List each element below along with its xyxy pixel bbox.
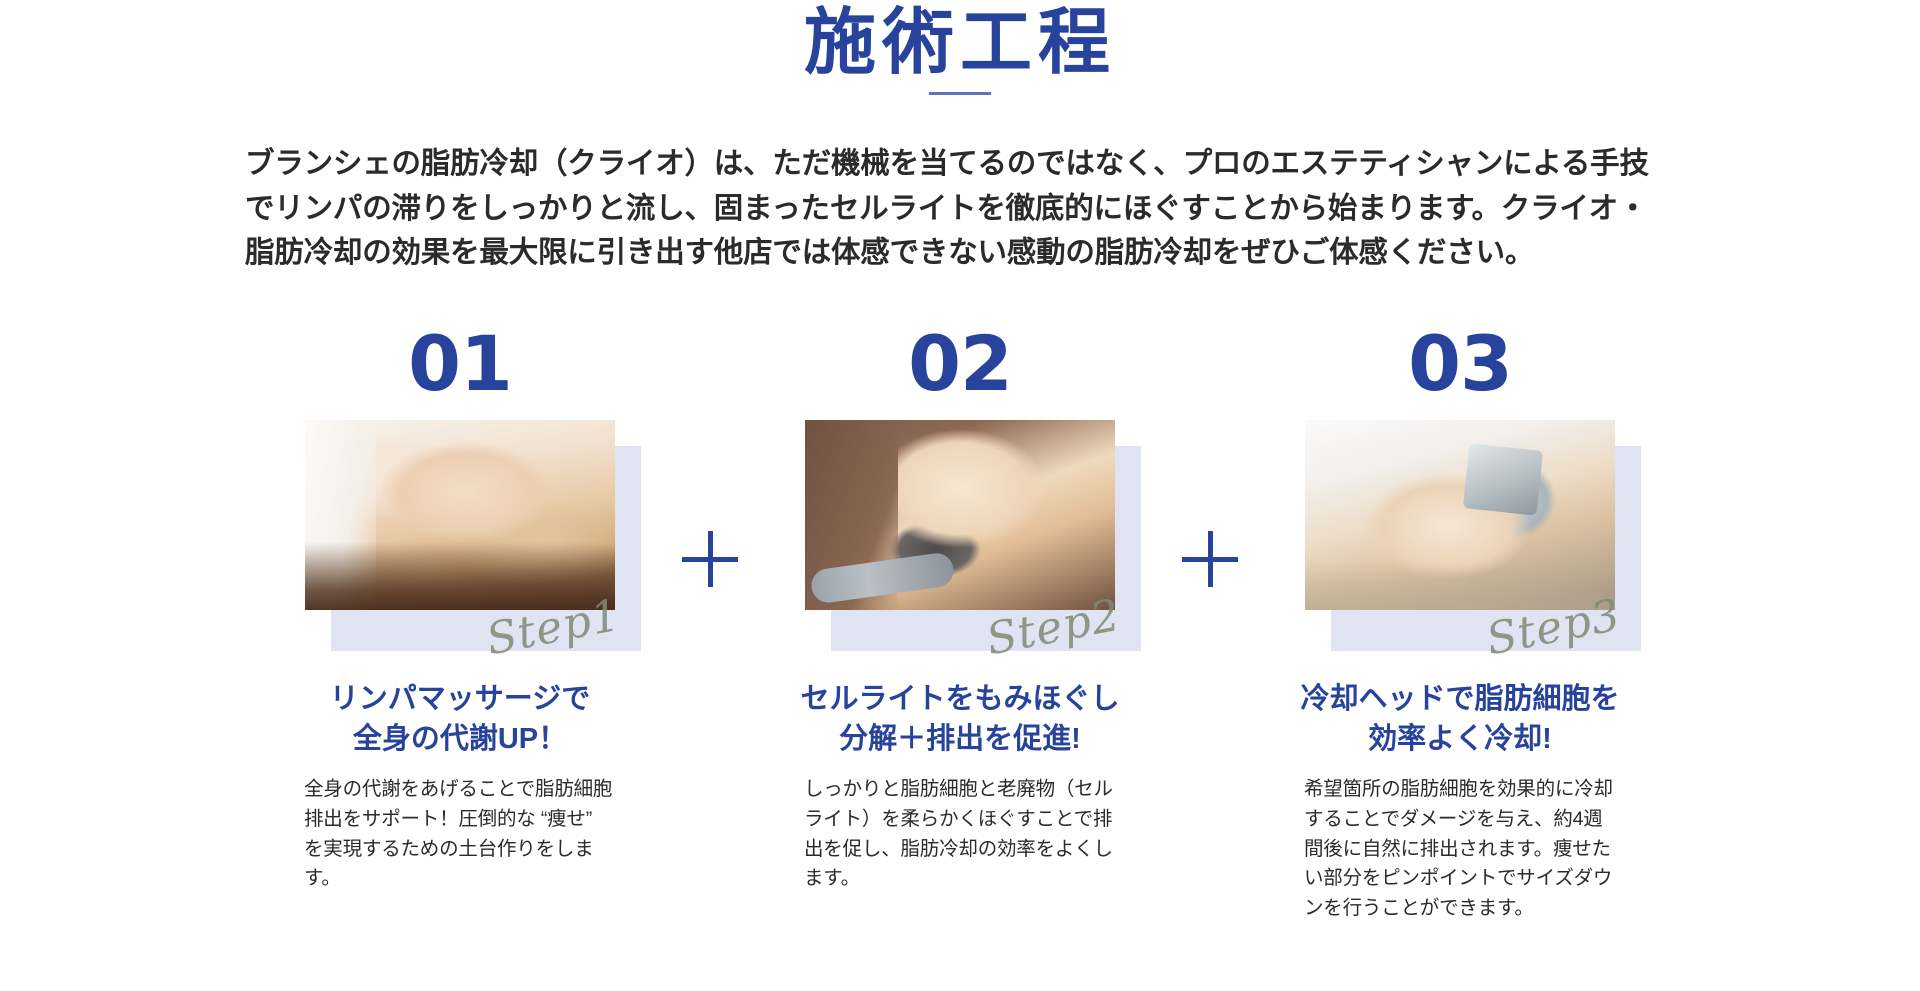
step-number-1: 01 <box>408 326 512 402</box>
step-headline-1-line1: リンパマッサージで <box>330 679 590 719</box>
step-card-2: 02 Step2 セルライトをもみほぐし 分解＋排出を促進! しっかりと脂肪細胞… <box>745 326 1175 894</box>
step-headline-2: セルライトをもみほぐし 分解＋排出を促進! <box>800 679 1119 759</box>
step-headline-3-line2: 効率よく冷却! <box>1300 719 1619 759</box>
cryo-cooling-head-photo <box>1305 420 1615 610</box>
step-headline-2-line2: 分解＋排出を促進! <box>800 719 1119 759</box>
step-photo-area-2: Step2 <box>805 420 1115 625</box>
step-body-1: 全身の代謝をあげることで脂肪細胞排出をサポート！圧倒的な “痩せ” を実現するた… <box>304 775 616 894</box>
step-headline-1-line2: 全身の代謝UP！ <box>330 719 590 759</box>
step-photo-1 <box>305 420 615 610</box>
steps-row: 01 Step1 リンパマッサージで 全身の代謝UP！ 全身の代謝をあげることで… <box>245 326 1675 923</box>
intro-paragraph: ブランシェの脂肪冷却（クライオ）は、ただ機械を当てるのではなく、プロのエステティ… <box>245 142 1675 276</box>
step-body-2: しっかりと脂肪細胞と老廃物（セルライト）を柔らかくほぐすことで排出を促し、脂肪冷… <box>804 775 1116 894</box>
plus-separator-icon-1 <box>682 531 738 587</box>
step-photo-3 <box>1305 420 1615 610</box>
step-photo-area-1: Step1 <box>305 420 615 625</box>
step-headline-1: リンパマッサージで 全身の代謝UP！ <box>330 679 590 759</box>
step-headline-3-line1: 冷却ヘッドで脂肪細胞を <box>1300 679 1619 719</box>
plus-separator-icon-2 <box>1182 531 1238 587</box>
step-number-3: 03 <box>1408 326 1512 402</box>
step-headline-3: 冷却ヘッドで脂肪細胞を 効率よく冷却! <box>1300 679 1619 759</box>
step-photo-2 <box>805 420 1115 610</box>
lymph-massage-photo <box>305 420 615 610</box>
step-card-1: 01 Step1 リンパマッサージで 全身の代謝UP！ 全身の代謝をあげることで… <box>245 326 675 894</box>
step-card-3: 03 Step3 冷却ヘッドで脂肪細胞を 効率よく冷却! 希望箇所の脂肪細胞を効… <box>1245 326 1675 923</box>
step-number-2: 02 <box>908 326 1012 402</box>
page-title: 施術工程 <box>804 4 1116 82</box>
section-header: 施術工程 <box>0 0 1920 95</box>
cellulite-handpiece-photo <box>805 420 1115 610</box>
step-body-3: 希望箇所の脂肪細胞を効果的に冷却することでダメージを与え、約4週間後に自然に排出… <box>1304 775 1616 923</box>
step-photo-area-3: Step3 <box>1305 420 1615 625</box>
title-underline-rule <box>929 92 991 95</box>
step-headline-2-line1: セルライトをもみほぐし <box>800 679 1119 719</box>
